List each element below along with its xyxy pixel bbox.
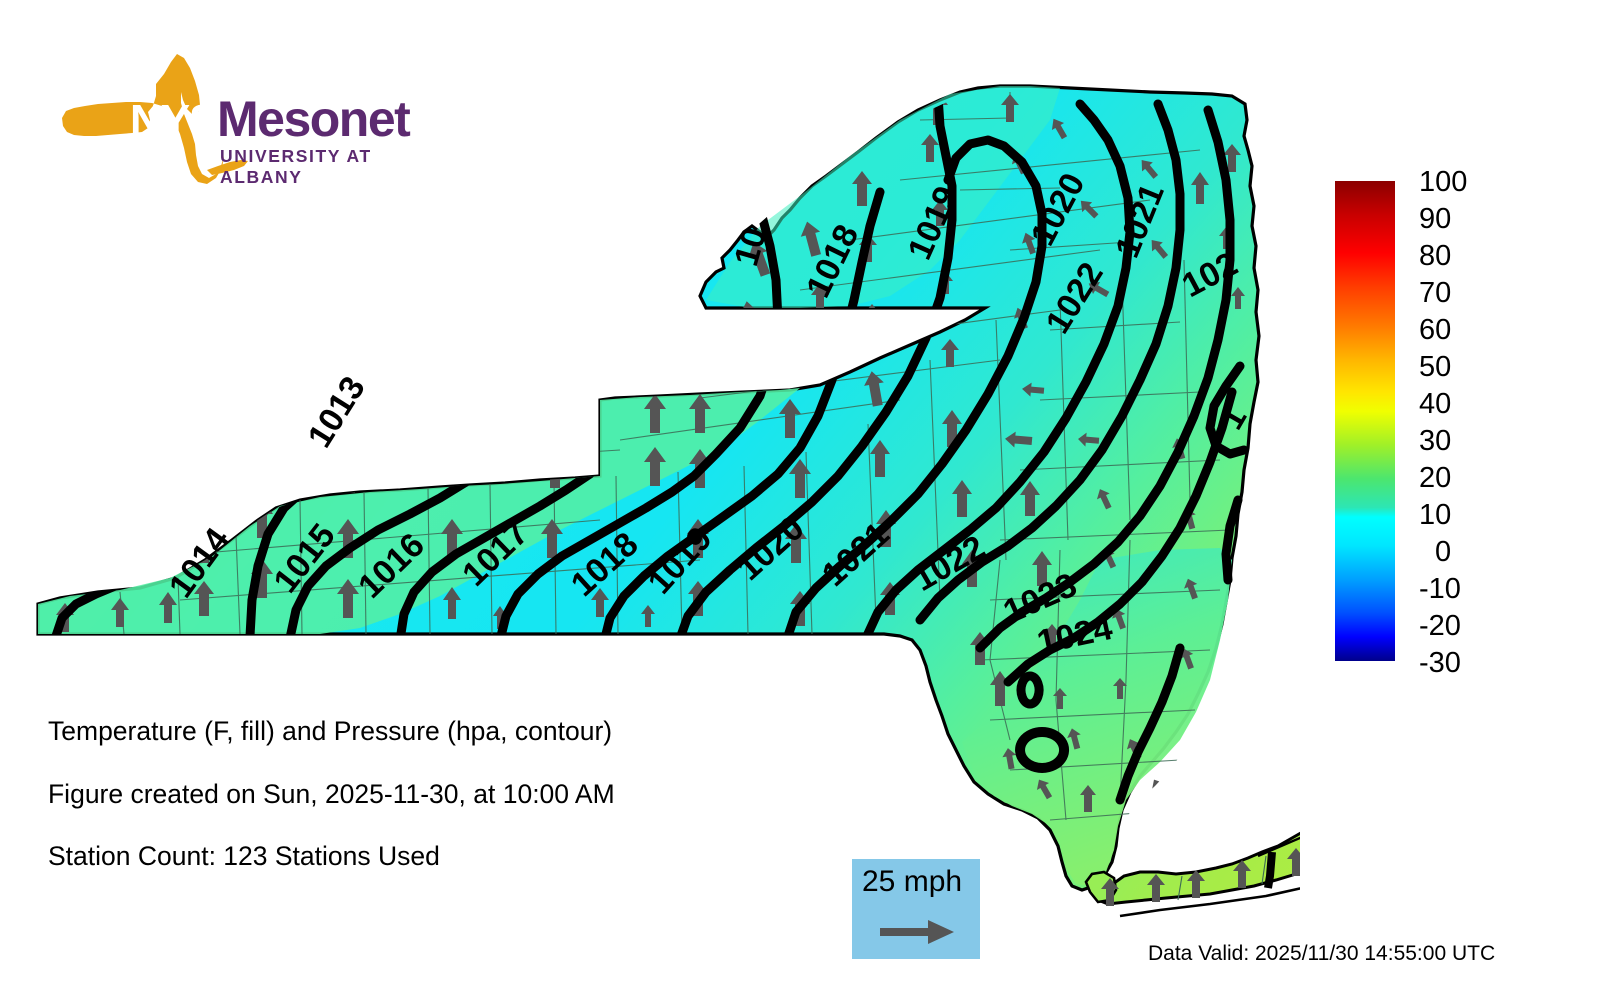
logo-nys-text: NYS bbox=[130, 96, 217, 146]
colorbar-tick-80: 80 bbox=[1419, 242, 1509, 271]
colorbar-tick-neg30: -30 bbox=[1419, 649, 1509, 678]
colorbar-gradient bbox=[1335, 181, 1395, 661]
li-contour bbox=[1268, 852, 1272, 888]
colorbar-tick-0: 0 bbox=[1435, 538, 1525, 567]
colorbar-tick-50: 50 bbox=[1419, 353, 1509, 382]
figure-caption: Temperature (F, fill) and Pressure (hpa,… bbox=[48, 718, 808, 906]
logo-university-text: UNIVERSITY AT ALBANY bbox=[220, 146, 402, 188]
svg-text:1013: 1013 bbox=[301, 370, 373, 454]
caption-title: Temperature (F, fill) and Pressure (hpa,… bbox=[48, 718, 808, 745]
data-valid-timestamp: Data Valid: 2025/11/30 14:55:00 UTC bbox=[1148, 942, 1495, 966]
wind-speed-legend: 25 mph bbox=[852, 859, 980, 959]
colorbar-tick-40: 40 bbox=[1419, 390, 1509, 419]
logo-mesonet-text: Mesonet bbox=[217, 90, 409, 148]
wind-legend-label: 25 mph bbox=[862, 865, 962, 899]
colorbar-tick-60: 60 bbox=[1419, 316, 1509, 345]
caption-created: Figure created on Sun, 2025-11-30, at 10… bbox=[48, 781, 808, 808]
temperature-colorbar: 100 90 80 70 60 50 40 30 20 10 0 -10 -20… bbox=[1335, 181, 1495, 661]
right-arrow-icon bbox=[880, 917, 956, 952]
colorbar-tick-30: 30 bbox=[1419, 427, 1509, 456]
colorbar-tick-neg10: -10 bbox=[1419, 575, 1509, 604]
caption-station-count: Station Count: 123 Stations Used bbox=[48, 843, 808, 870]
colorbar-tick-100: 100 bbox=[1419, 168, 1509, 197]
colorbar-tick-70: 70 bbox=[1419, 279, 1509, 308]
colorbar-tick-20: 20 bbox=[1419, 464, 1509, 493]
colorbar-tick-90: 90 bbox=[1419, 205, 1509, 234]
colorbar-tick-neg20: -20 bbox=[1419, 612, 1509, 641]
colorbar-tick-10: 10 bbox=[1419, 501, 1509, 530]
nys-mesonet-logo: NYS Mesonet UNIVERSITY AT ALBANY bbox=[52, 48, 402, 188]
